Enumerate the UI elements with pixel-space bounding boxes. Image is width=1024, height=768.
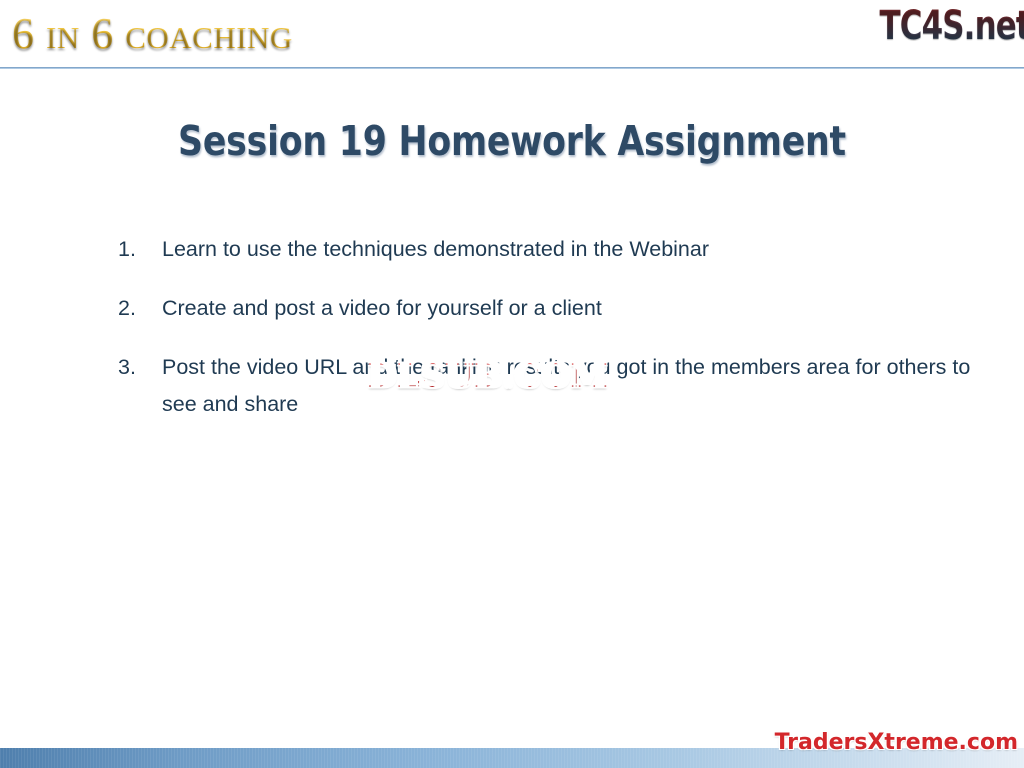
- site-logo: TC4S.net: [880, 2, 1024, 50]
- slide-canvas: 6 In 6 Coaching TC4S.net Session 19 Home…: [0, 0, 1024, 768]
- list-item-number: 1.: [118, 231, 162, 268]
- list-item-text: Learn to use the techniques demonstrated…: [162, 231, 982, 268]
- list-item-number: 3.: [118, 349, 162, 386]
- list-item: 1. Learn to use the techniques demonstra…: [118, 231, 998, 268]
- header-banner: 6 In 6 Coaching TC4S.net: [0, 0, 1024, 69]
- dlsub-watermark: DLSUB.COM: [368, 357, 608, 395]
- slide-content: Session 19 Homework Assignment 1. Learn …: [0, 69, 1024, 748]
- list-item-text: Create and post a video for yourself or …: [162, 290, 982, 327]
- list-item-number: 2.: [118, 290, 162, 327]
- list-item: 2. Create and post a video for yourself …: [118, 290, 998, 327]
- homework-task-list: 1. Learn to use the techniques demonstra…: [78, 231, 998, 445]
- page-title: Session 19 Homework Assignment: [31, 117, 994, 165]
- tradersxtreme-watermark: TradersXtreme.com: [775, 730, 1018, 756]
- brand-logo: 6 In 6 Coaching: [12, 6, 293, 62]
